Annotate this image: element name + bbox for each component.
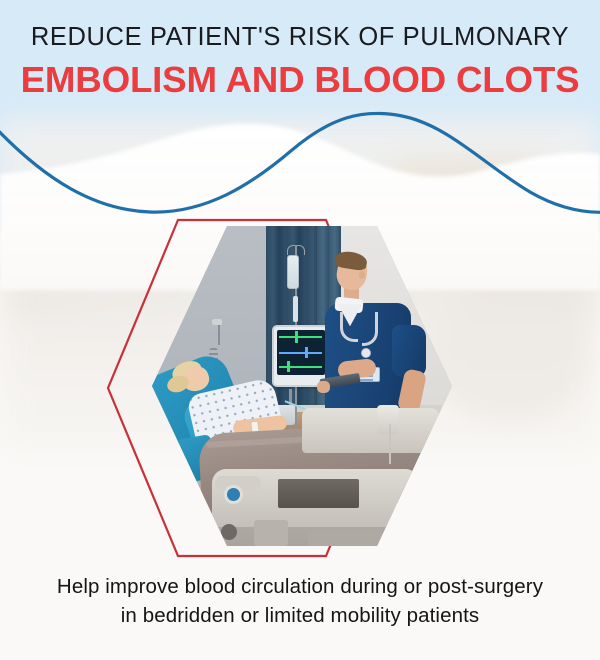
photo-bed-cord: [389, 424, 391, 464]
photo-stethoscope-bell: [361, 348, 371, 358]
photo-nurse-hand: [317, 381, 330, 393]
photo-bed-rail-knob: [377, 405, 399, 435]
photo-ecg-trace-blue: [279, 352, 322, 354]
photo-nurse-ear: [359, 271, 365, 279]
photo-bed-foot-base: [308, 530, 388, 546]
headline-line-2: EMBOLISM AND BLOOD CLOTS: [0, 58, 600, 101]
photo-cable-stem: [218, 325, 220, 345]
photo-ecg-trace-green-2: [279, 366, 322, 368]
photo-monitor-screen: [277, 330, 325, 375]
photo-bed-rail: [302, 408, 440, 453]
photo-bed-side-arm: [215, 476, 261, 490]
headline-line-1: REDUCE PATIENT'S RISK OF PULMONARY: [0, 22, 600, 52]
infographic-poster: REDUCE PATIENT'S RISK OF PULMONARY EMBOL…: [0, 0, 600, 660]
photo-wall-outlet: [212, 319, 222, 325]
photo-ecg-trace-green: [279, 336, 322, 338]
photo-ecg-spike-green: [295, 331, 298, 343]
photo-bed-column: [254, 520, 288, 546]
photo-bed-wheel: [221, 524, 237, 540]
photo-ecg-spike-blue: [305, 347, 308, 358]
photo-iv-drip-chamber: [293, 296, 298, 322]
headline-block: REDUCE PATIENT'S RISK OF PULMONARY EMBOL…: [0, 22, 600, 101]
caption-block: Help improve blood circulation during or…: [0, 572, 600, 630]
caption-line-2: in bedridden or limited mobility patient…: [0, 601, 600, 630]
photo-iv-bag: [287, 255, 299, 289]
photo-bed-control-panel: [278, 479, 359, 508]
photo-ecg-spike-green-2: [287, 361, 290, 372]
caption-line-1: Help improve blood circulation during or…: [0, 572, 600, 601]
